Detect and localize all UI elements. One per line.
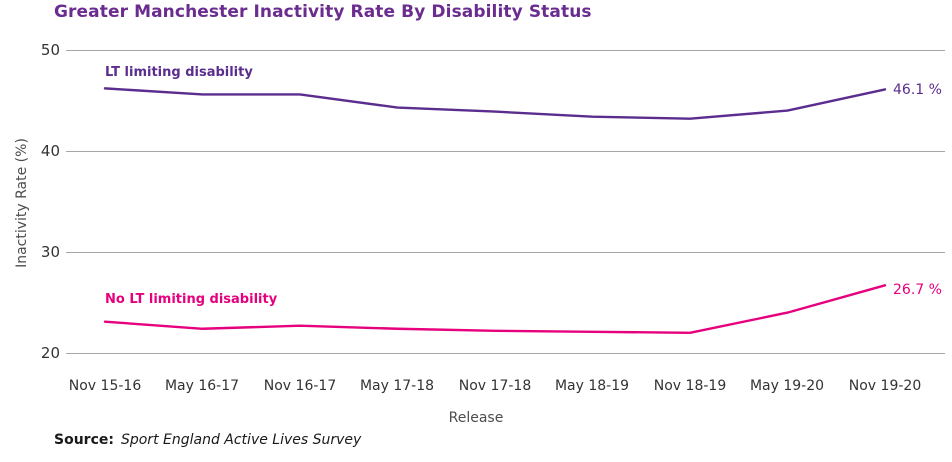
chart-container: Greater Manchester Inactivity Rate By Di…	[0, 0, 952, 462]
x-tick-1: May 16-17	[165, 378, 239, 394]
x-tick-2: Nov 16-17	[264, 378, 336, 394]
x-tick-4: Nov 17-18	[459, 378, 531, 394]
x-tick-0: Nov 15-16	[69, 378, 141, 394]
x-tick-8: Nov 19-20	[849, 378, 921, 394]
source-key: Source:	[54, 432, 114, 448]
source-value: Sport England Active Lives Survey	[121, 432, 361, 448]
series-label-lt-limiting-disability: LT limiting disability	[105, 65, 253, 80]
x-axis-label: Release	[0, 410, 952, 426]
end-value-no-lt-limiting-disability: 26.7 %	[893, 282, 942, 298]
x-tick-5: May 18-19	[555, 378, 629, 394]
x-tick-7: May 19-20	[750, 378, 824, 394]
series-label-no-lt-limiting-disability: No LT limiting disability	[105, 292, 277, 307]
end-value-lt-limiting-disability: 46.1 %	[893, 82, 942, 98]
line-lt-limiting-disability	[105, 88, 885, 118]
x-tick-3: May 17-18	[360, 378, 434, 394]
x-tick-6: Nov 18-19	[654, 378, 726, 394]
source-line: Source:Sport England Active Lives Survey	[54, 432, 361, 448]
